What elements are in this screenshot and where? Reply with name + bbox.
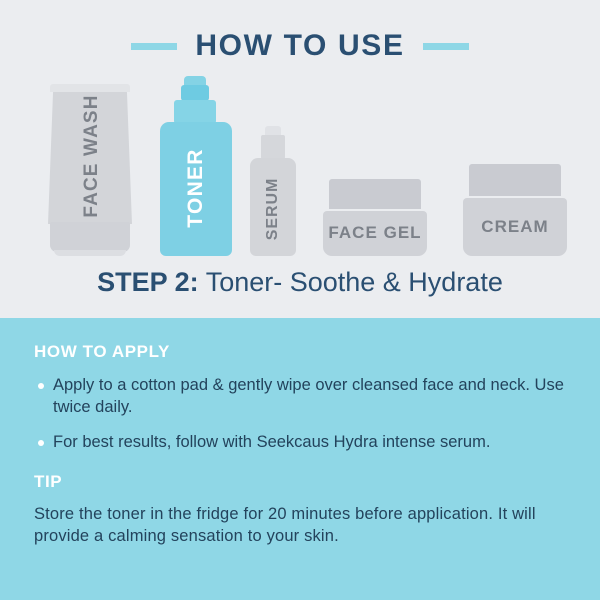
dropper-neck <box>261 135 285 159</box>
instructions-panel: HOW TO APPLY Apply to a cotton pad & gen… <box>0 318 600 600</box>
title-dash-left <box>131 43 177 50</box>
step-label: STEP 2: <box>97 267 199 297</box>
pump-neck <box>181 85 209 101</box>
page-title: HOW TO USE <box>195 31 404 61</box>
tube-foot <box>54 250 126 256</box>
product-label-serum: SERUM <box>264 178 282 241</box>
pump-collar <box>174 100 216 124</box>
how-to-apply-list: Apply to a cotton pad & gently wipe over… <box>34 375 566 453</box>
tip-text: Store the toner in the fridge for 20 min… <box>34 503 566 547</box>
how-to-apply-heading: HOW TO APPLY <box>34 342 566 362</box>
page-title-row: HOW TO USE <box>0 24 600 68</box>
product-face-gel: FACE GEL <box>323 179 427 256</box>
step-heading: STEP 2: Toner- Soothe & Hydrate <box>0 268 600 298</box>
product-serum: SERUM <box>250 126 296 256</box>
tube-cap <box>50 222 130 252</box>
product-label-face-wash: FACE WASH <box>81 94 103 217</box>
list-item: Apply to a cotton pad & gently wipe over… <box>34 375 564 419</box>
product-cream: CREAM <box>463 164 567 256</box>
product-face-wash: FACE WASH <box>48 84 132 256</box>
product-toner: TONER <box>160 76 232 256</box>
step-description: Toner- Soothe & Hydrate <box>206 267 503 297</box>
product-label-toner: TONER <box>184 148 208 227</box>
product-label-cream: CREAM <box>481 217 548 237</box>
tube-seal <box>50 84 130 92</box>
product-label-face-gel: FACE GEL <box>328 223 421 243</box>
top-section: HOW TO USE FACE WASH TONER SERUM F <box>0 0 600 318</box>
title-dash-right <box>423 43 469 50</box>
tip-heading: TIP <box>34 472 566 492</box>
list-item: For best results, follow with Seekcaus H… <box>34 432 564 454</box>
jar-lid <box>329 179 421 209</box>
jar-lid <box>469 164 561 196</box>
product-lineup: FACE WASH TONER SERUM FACE GEL CREAM <box>0 76 600 256</box>
